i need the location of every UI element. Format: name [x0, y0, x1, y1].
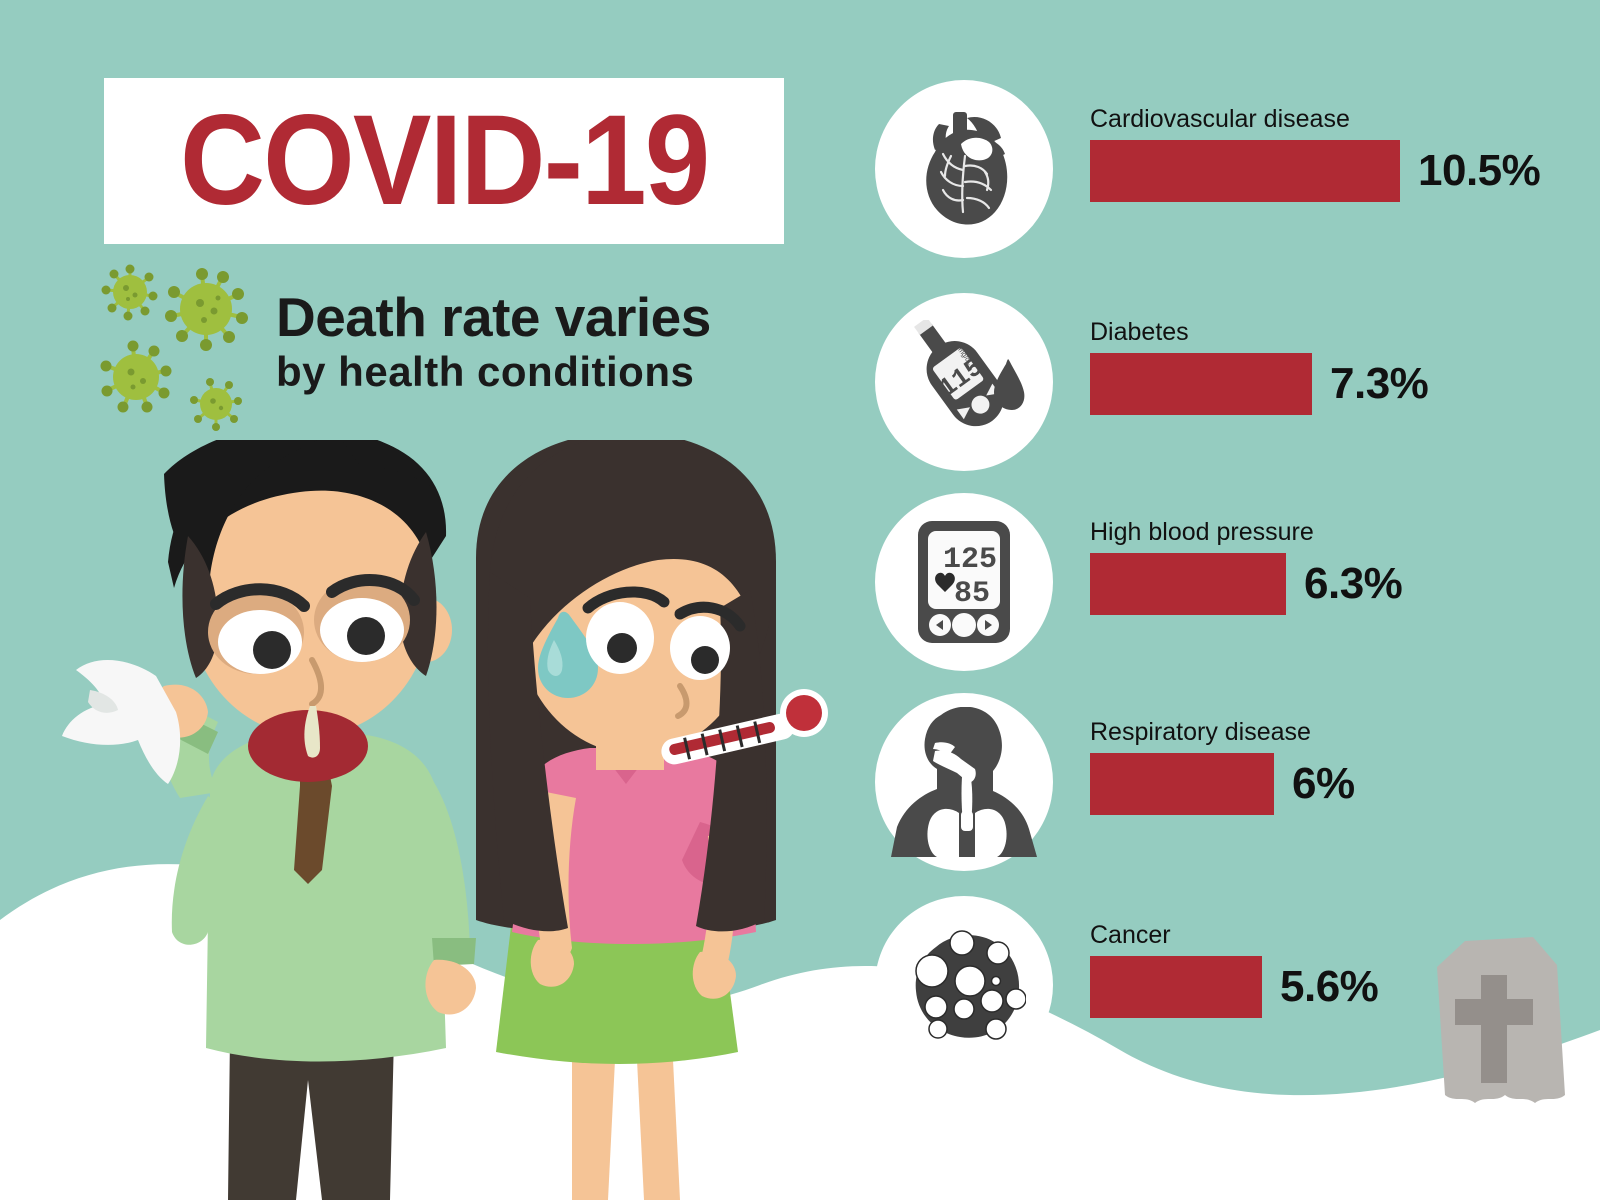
stat-row-respiratory: Respiratory disease 6% [868, 693, 1568, 873]
bar-fill [1090, 353, 1312, 415]
bar-area-cancer: Cancer 5.6% [1090, 920, 1568, 1018]
subtitle-line-1: Death rate varies [276, 288, 796, 346]
svg-text:125: 125 [943, 543, 997, 577]
sick-people-illustration [60, 440, 860, 1200]
bar-label: Cancer [1090, 920, 1568, 950]
stat-row-blood-pressure: 125 85 High blood pressure 6.3% [868, 493, 1568, 673]
bar-fill [1090, 956, 1262, 1018]
bar-fill [1090, 553, 1286, 615]
bar-fill [1090, 753, 1274, 815]
svg-text:85: 85 [954, 577, 990, 611]
bar-label: Cardiovascular disease [1090, 104, 1568, 134]
virus-particles-icon [88, 252, 268, 442]
bar-value: 10.5% [1418, 146, 1540, 196]
anatomical-heart-icon [875, 80, 1053, 258]
blood-pressure-monitor-icon: 125 85 [875, 493, 1053, 671]
subtitle-line-2: by health conditions [276, 346, 796, 398]
bar-label: High blood pressure [1090, 517, 1568, 547]
infographic-canvas: COVID-19 Death rate varies by health con… [0, 0, 1600, 1200]
lungs-torso-icon [875, 693, 1053, 871]
bar-area-blood-pressure: High blood pressure 6.3% [1090, 517, 1568, 615]
stat-row-cardiovascular: Cardiovascular disease 10.5% [868, 80, 1568, 260]
page-title: COVID-19 [180, 97, 708, 225]
bar-value: 7.3% [1330, 359, 1428, 409]
bar-label: Respiratory disease [1090, 717, 1568, 747]
bar-value: 6.3% [1304, 559, 1402, 609]
subtitle-block: Death rate varies by health conditions [276, 288, 796, 398]
glucose-meter-icon: 115 mg/dL [875, 293, 1053, 471]
stat-row-cancer: Cancer 5.6% [868, 896, 1568, 1076]
stats-panel: Cardiovascular disease 10.5% 115 mg [868, 80, 1568, 1110]
bar-fill [1090, 140, 1400, 202]
bar-value: 6% [1292, 759, 1355, 809]
woman-figure [476, 440, 828, 1200]
bar-value: 5.6% [1280, 962, 1378, 1012]
bar-area-cardiovascular: Cardiovascular disease 10.5% [1090, 104, 1568, 202]
bar-label: Diabetes [1090, 317, 1568, 347]
bar-area-diabetes: Diabetes 7.3% [1090, 317, 1568, 415]
title-banner: COVID-19 [104, 78, 784, 244]
cancer-cell-icon [875, 896, 1053, 1074]
man-figure [62, 440, 476, 1200]
bar-area-respiratory: Respiratory disease 6% [1090, 717, 1568, 815]
stat-row-diabetes: 115 mg/dL Diabetes 7.3% [868, 293, 1568, 473]
